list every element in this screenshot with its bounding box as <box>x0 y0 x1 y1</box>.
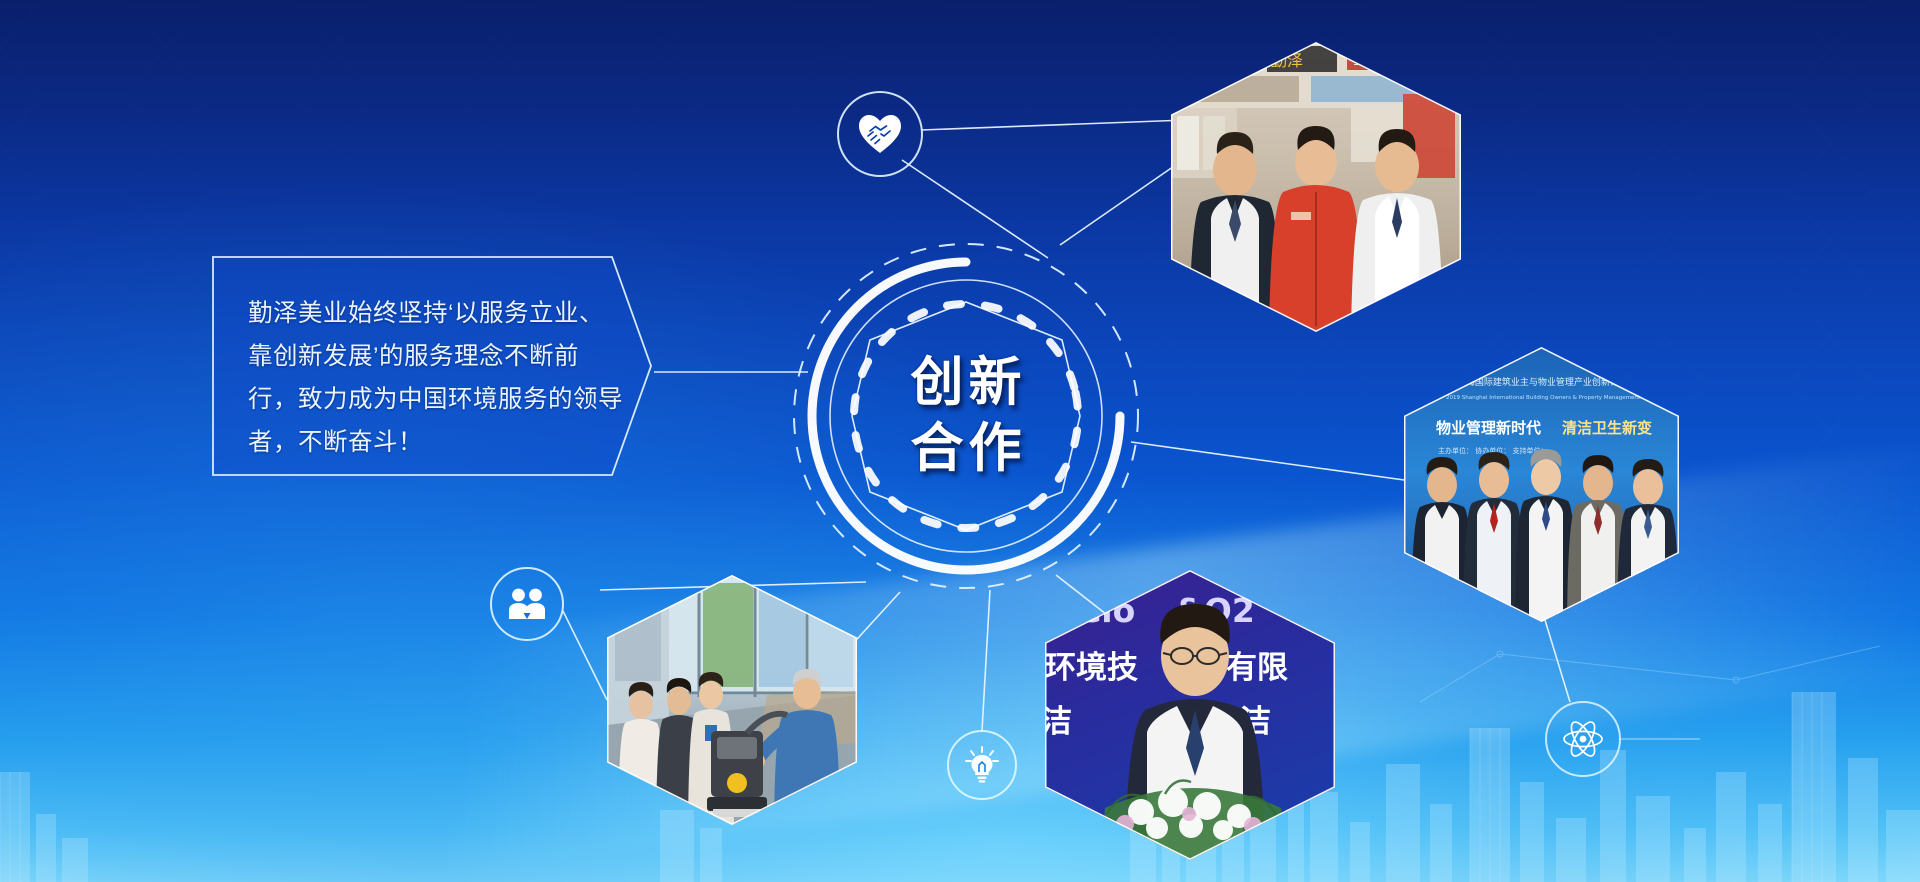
photo-group-stage-five-people[interactable]: 2019上海国际建筑业主与物业管理产业创新论坛 2019 Shanghai In… <box>1404 347 1679 622</box>
link-center-to-forum <box>1131 442 1404 480</box>
svg-text:物业管理新时代: 物业管理新时代 <box>1436 419 1541 437</box>
photo-equipment-demo-office[interactable] <box>607 575 857 825</box>
bubble-two-people[interactable] <box>490 567 564 641</box>
quote-text: 勤泽美业始终坚持‘以服务立业、 靠创新发展’的服务理念不断前 行，致力成为中国环… <box>248 292 628 464</box>
emblem-line-2: 合作 <box>906 420 1027 478</box>
hero-banner: 勤泽美业始终坚持‘以服务立业、 靠创新发展’的服务理念不断前 行，致力成为中国环… <box>0 0 1920 882</box>
svg-text:环境技: 环境技 <box>1045 650 1138 686</box>
link-forum-to-atom <box>1545 620 1570 702</box>
svg-text:洁: 洁 <box>1045 704 1072 740</box>
svg-text:清洁卫生新变: 清洁卫生新变 <box>1562 419 1652 437</box>
svg-text:e-Clo: e-Clo <box>1045 591 1135 630</box>
philosophy-quote-card: 勤泽美业始终坚持‘以服务立业、 靠创新发展’的服务理念不断前 行，致力成为中国环… <box>212 256 652 476</box>
link-handshake-to-award <box>921 120 1186 130</box>
svg-text:2019上海国际建筑业主与物业管理产业创新论坛: 2019上海国际建筑业主与物业管理产业创新论坛 <box>1434 376 1628 388</box>
atom-icon <box>1562 718 1604 760</box>
emblem-line-1: 创新 <box>906 354 1027 412</box>
emblem-label: 创新 合作 <box>790 240 1142 592</box>
two-people-icon <box>508 587 546 621</box>
link-center-to-bulb <box>982 590 990 731</box>
bubble-handshake[interactable] <box>837 91 923 177</box>
handshake-heart-icon <box>858 114 902 154</box>
link-equipment-to-people <box>563 611 607 700</box>
svg-text:全社事: 全社事 <box>1353 52 1392 68</box>
link-center-to-award <box>1060 162 1180 245</box>
center-emblem: 创新 合作 <box>790 240 1142 592</box>
svg-text:2019 Shanghai International Bu: 2019 Shanghai International Building Own… <box>1446 395 1679 401</box>
bubble-lightbulb[interactable] <box>947 730 1017 800</box>
photo-award-ceremony-three-people[interactable]: 勤泽 全社事 <box>1171 42 1461 332</box>
lightbulb-icon <box>964 746 1000 784</box>
photo-speaker-podium-conference[interactable]: e-Clo &Q2 环境技 务有限 洁 洁 务业联盟系列活 <box>1045 570 1335 860</box>
bubble-atom[interactable] <box>1545 701 1621 777</box>
svg-text:勤泽: 勤泽 <box>1271 51 1303 70</box>
